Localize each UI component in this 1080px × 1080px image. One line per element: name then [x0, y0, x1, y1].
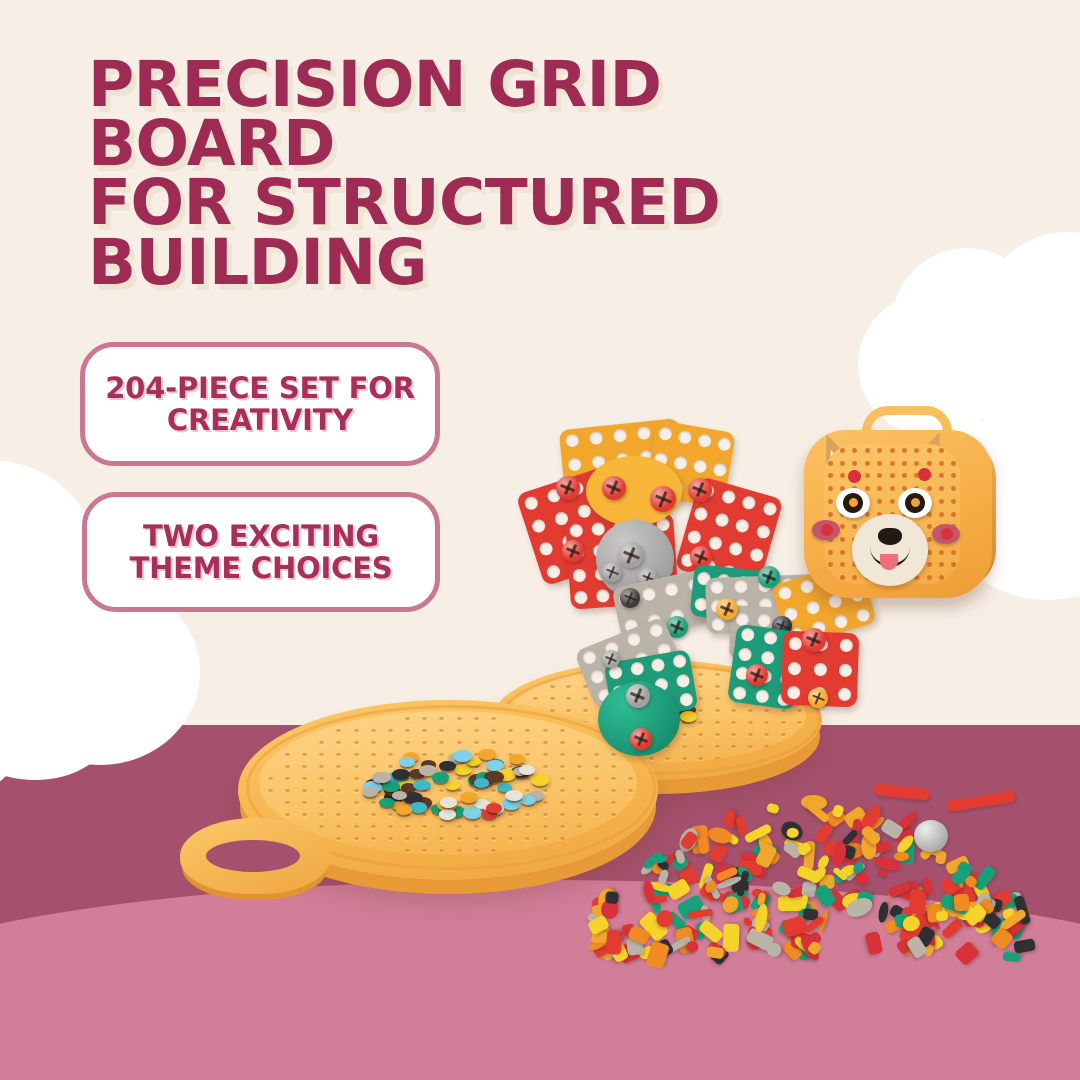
plastic-screw: [746, 664, 768, 686]
plastic-screw: [620, 588, 640, 608]
plastic-screw: [618, 542, 644, 568]
plastic-screw: [808, 688, 828, 708]
cat-tongue: [880, 554, 898, 570]
loose-screws-pile: [574, 778, 1034, 958]
plastic-screw: [802, 628, 826, 652]
cat-face-carry-case: [790, 392, 1006, 604]
feature-badge-piece-count: 204-PIECE SET FOR CREATIVITY: [80, 342, 440, 466]
red-peg-right: [918, 468, 931, 481]
plastic-screw: [716, 598, 738, 620]
red-peg-left: [848, 470, 861, 483]
plastic-screw: [602, 650, 620, 668]
feature-badge-label: TWO EXCITING THEME CHOICES: [87, 520, 435, 585]
cat-eye-icon-right: [898, 488, 932, 518]
page-title: PRECISION GRID BOARD FOR STRUCTURED BUIL…: [88, 55, 888, 292]
plastic-screw: [630, 728, 652, 750]
plastic-screw: [556, 476, 580, 500]
tray-carry-handle: [180, 818, 330, 894]
plastic-screw: [688, 478, 712, 502]
plastic-screw: [602, 562, 622, 582]
cat-blush-left: [812, 520, 840, 540]
feature-badge-label: 204-PIECE SET FOR CREATIVITY: [85, 372, 435, 437]
plastic-screw: [650, 486, 676, 512]
plastic-screw: [602, 476, 626, 500]
feature-badge-theme-choices: TWO EXCITING THEME CHOICES: [82, 492, 440, 612]
headline-line-2: FOR STRUCTURED: [88, 173, 888, 232]
cat-muzzle: [852, 514, 928, 586]
cat-eye-icon-left: [836, 488, 870, 518]
cat-blush-right: [932, 524, 960, 544]
plastic-screw: [626, 684, 650, 708]
headline-line-1: PRECISION GRID BOARD: [88, 55, 888, 173]
headline-line-3: BUILDING: [88, 233, 888, 292]
poster-canvas: PRECISION GRID BOARD FOR STRUCTURED BUIL…: [0, 0, 1080, 1080]
plastic-screw: [562, 540, 584, 562]
cat-nose-icon: [878, 528, 902, 545]
